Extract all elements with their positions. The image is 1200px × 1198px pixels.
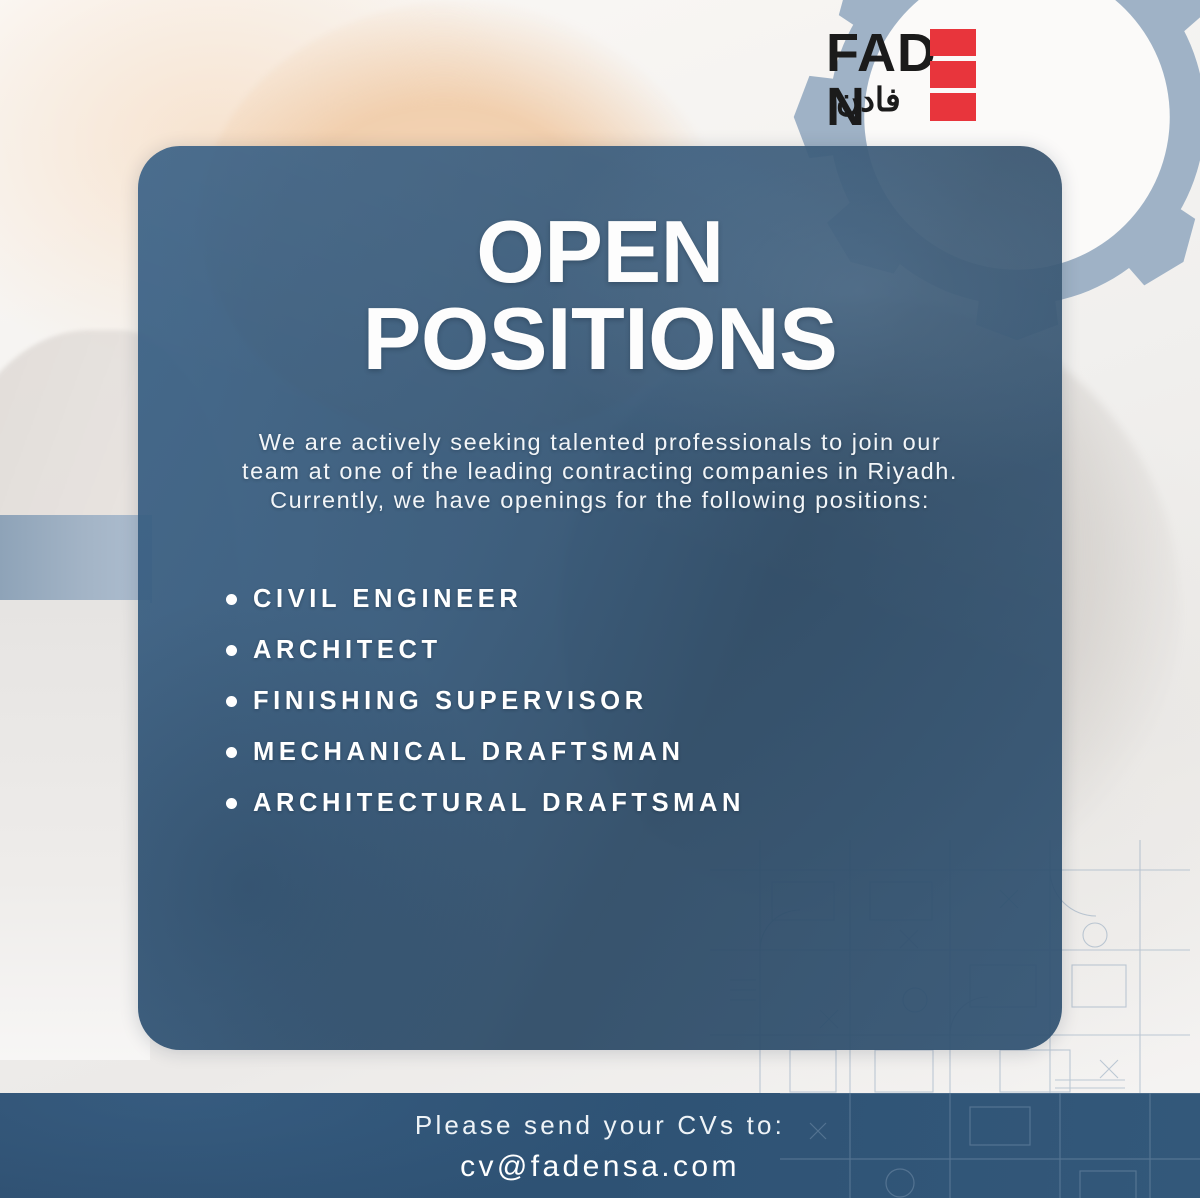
list-item: FINISHING SUPERVISOR [226,676,1062,727]
list-item: ARCHITECTURAL DRAFTSMAN [226,778,1062,829]
page-title: OPEN POSITIONS [138,146,1062,382]
footer-cta-text: Please send your CVs to: [0,1093,1200,1141]
brand-logo: FADN فادن [826,26,1018,126]
bullet-icon [226,594,237,605]
position-label: MECHANICAL DRAFTSMAN [253,738,685,767]
page-title-line1: OPEN [476,202,723,301]
bullet-icon [226,798,237,809]
footer-email: cv@fadensa.com [0,1141,1200,1184]
position-label: FINISHING SUPERVISOR [253,687,648,716]
intro-paragraph: We are actively seeking talented profess… [138,382,1062,514]
logo-block-middle [930,61,976,88]
position-label: ARCHITECTURAL DRAFTSMAN [253,789,745,818]
background-accent-band [0,515,152,603]
logo-wordmark-left: FAD [826,23,937,83]
positions-list: CIVIL ENGINEER ARCHITECT FINISHING SUPER… [138,514,1062,829]
logo-red-blocks-icon [930,29,976,123]
list-item: CIVIL ENGINEER [226,574,1062,625]
list-item: MECHANICAL DRAFTSMAN [226,727,1062,778]
bullet-icon [226,696,237,707]
bullet-icon [226,645,237,656]
logo-block-top [930,29,976,56]
content-card: OPEN POSITIONS We are actively seeking t… [138,146,1062,1050]
page-title-line2: POSITIONS [363,289,838,388]
position-label: ARCHITECT [253,636,442,665]
contact-footer: Please send your CVs to: cv@fadensa.com [0,1093,1200,1198]
position-label: CIVIL ENGINEER [253,585,522,614]
poster-canvas: FADN فادن OPEN POSITIONS We are actively… [0,0,1200,1198]
list-item: ARCHITECT [226,625,1062,676]
background-vertical-strip [0,600,150,1060]
logo-block-bottom [930,93,976,121]
bullet-icon [226,747,237,758]
logo-arabic-wordmark: فادن [836,83,901,116]
